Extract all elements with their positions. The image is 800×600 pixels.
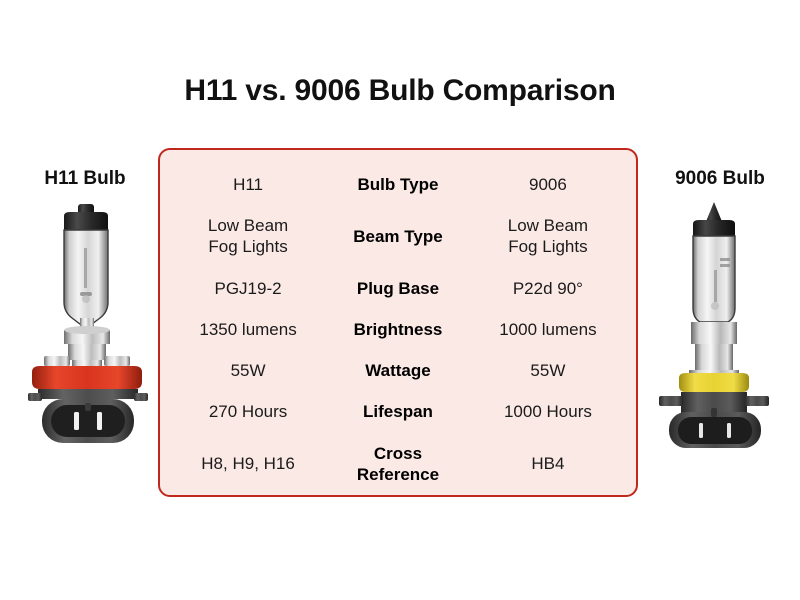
9006-bulb-photo <box>645 200 785 450</box>
h11-bulb-illustration <box>18 200 158 450</box>
cell-left-wattage: 55W <box>160 360 336 381</box>
page-title: H11 vs. 9006 Bulb Comparison <box>0 74 800 108</box>
cell-label-wattage: Wattage <box>336 360 460 381</box>
table-row: Low Beam Fog Lights Beam Type Low Beam F… <box>160 205 636 267</box>
cell-label-lifespan: Lifespan <box>336 401 460 422</box>
cell-left-plug-base: PGJ19-2 <box>160 278 336 299</box>
comparison-table: H11 Bulb Type 9006 Low Beam Fog Lights B… <box>158 148 638 497</box>
cell-left-bulb-type: H11 <box>160 174 336 195</box>
table-row: 270 Hours Lifespan 1000 Hours <box>160 391 636 432</box>
table-row: PGJ19-2 Plug Base P22d 90° <box>160 268 636 309</box>
9006-bulb-illustration <box>645 200 785 450</box>
cell-right-brightness: 1000 lumens <box>460 319 636 340</box>
cell-right-wattage: 55W <box>460 360 636 381</box>
cell-label-plug-base: Plug Base <box>336 278 460 299</box>
cell-right-cross-reference: HB4 <box>460 453 636 474</box>
table-row: H11 Bulb Type 9006 <box>160 164 636 205</box>
cell-right-bulb-type: 9006 <box>460 174 636 195</box>
left-bulb-label: H11 Bulb <box>5 168 165 190</box>
cell-left-beam-type: Low Beam Fog Lights <box>160 215 336 258</box>
h11-bulb-photo <box>18 200 158 450</box>
cell-label-beam-type: Beam Type <box>336 226 460 247</box>
table-row: H8, H9, H16 Cross Reference HB4 <box>160 433 636 495</box>
cell-left-cross-reference: H8, H9, H16 <box>160 453 336 474</box>
table-row: 55W Wattage 55W <box>160 350 636 391</box>
cell-label-bulb-type: Bulb Type <box>336 174 460 195</box>
cell-left-lifespan: 270 Hours <box>160 401 336 422</box>
cell-label-cross-reference: Cross Reference <box>336 443 460 486</box>
cell-right-plug-base: P22d 90° <box>460 278 636 299</box>
right-bulb-label: 9006 Bulb <box>640 168 800 190</box>
cell-right-beam-type: Low Beam Fog Lights <box>460 215 636 258</box>
cell-right-lifespan: 1000 Hours <box>460 401 636 422</box>
cell-label-brightness: Brightness <box>336 319 460 340</box>
table-row: 1350 lumens Brightness 1000 lumens <box>160 309 636 350</box>
cell-left-brightness: 1350 lumens <box>160 319 336 340</box>
